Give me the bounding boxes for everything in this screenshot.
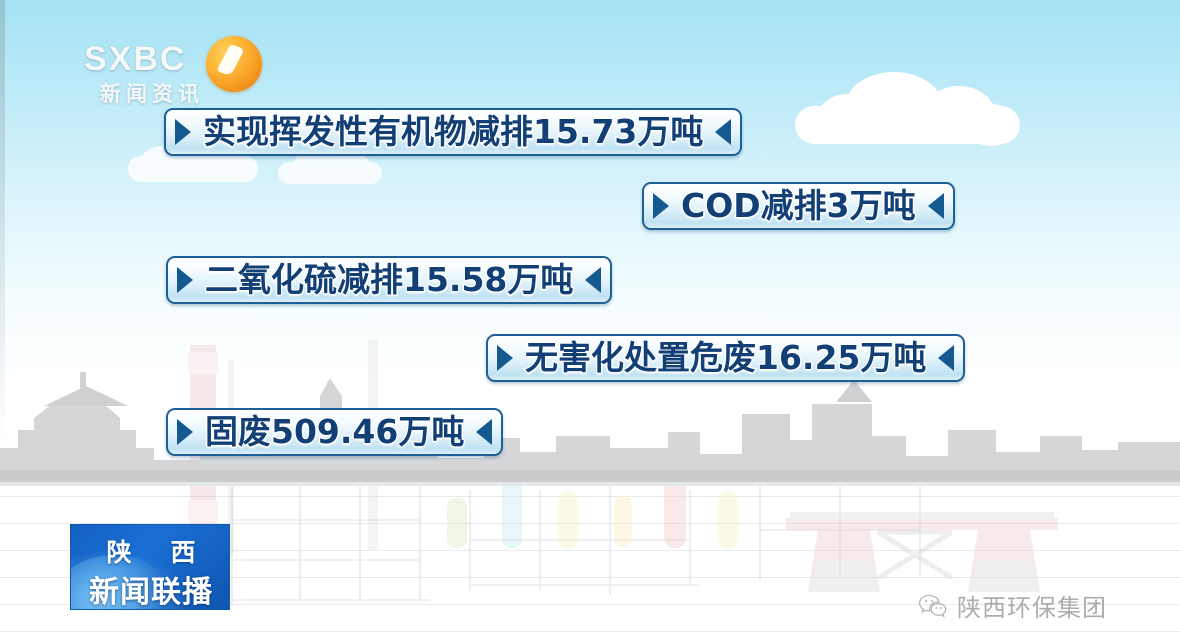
stat-banner-text: 无害化处置危废16.25万吨 — [516, 337, 935, 379]
ground-band — [0, 470, 1180, 482]
chevron-right-icon — [650, 191, 672, 221]
channel-logo: SXBC 新闻资讯 — [84, 40, 274, 108]
stat-banner-so2: 二氧化硫减排15.58万吨 — [166, 256, 612, 304]
stat-banner-voc: 实现挥发性有机物减排15.73万吨 — [164, 108, 742, 156]
program-bug-title: 新闻联播 — [71, 567, 230, 610]
storage-tanks-icon — [447, 480, 738, 548]
chevron-right-icon — [172, 117, 194, 147]
chevron-right-icon — [174, 265, 196, 295]
chevron-left-icon — [582, 265, 604, 295]
broadcast-frame: SXBC 新闻资讯 实现挥发性有机物减排15.73万吨 COD减排3万吨 二氧化… — [0, 0, 1180, 641]
stat-banner-text: COD减排3万吨 — [672, 185, 925, 227]
wechat-icon — [918, 593, 948, 619]
chevron-left-icon — [925, 191, 947, 221]
chevron-right-icon — [174, 417, 196, 447]
chevron-left-icon — [935, 343, 957, 373]
channel-logo-latin: SXBC — [84, 40, 186, 79]
orange-sphere-icon — [206, 36, 262, 92]
stat-banner-text: 二氧化硫减排15.58万吨 — [196, 259, 582, 301]
stat-banner-solid-waste: 固废509.46万吨 — [166, 408, 503, 456]
cloud-icon — [795, 72, 1020, 144]
channel-logo-chinese: 新闻资讯 — [100, 78, 204, 108]
watermark-label: 陕西环保集团 — [957, 588, 1107, 623]
chevron-right-icon — [494, 343, 516, 373]
stat-banner-hazardous-waste: 无害化处置危废16.25万吨 — [486, 334, 965, 382]
chevron-left-icon — [712, 117, 734, 147]
chevron-left-icon — [473, 417, 495, 447]
program-bug-region: 陕 西 — [71, 533, 230, 569]
bridge-icon — [786, 512, 1058, 592]
stat-banner-text: 实现挥发性有机物减排15.73万吨 — [194, 111, 712, 153]
stat-banner-cod: COD减排3万吨 — [642, 182, 955, 230]
stat-banner-text: 固废509.46万吨 — [196, 411, 473, 453]
watermark: 陕西环保集团 — [918, 588, 1107, 623]
program-bug: 陕 西 新闻联播 — [70, 524, 230, 610]
